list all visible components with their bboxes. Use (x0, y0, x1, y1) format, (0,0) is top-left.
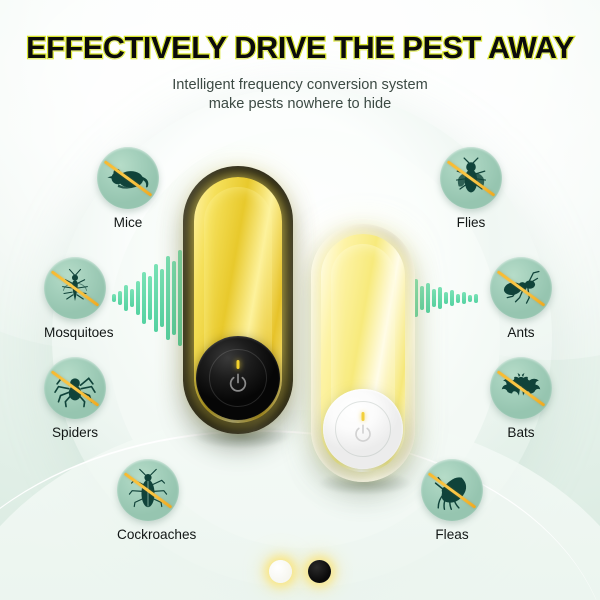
wave-bar (130, 289, 134, 307)
white-device-led-indicator (362, 412, 365, 421)
wave-bar (148, 276, 152, 320)
wave-bar (142, 272, 146, 324)
mosquitoes-badge-disc (44, 257, 106, 319)
mice-badge-disc (97, 147, 159, 209)
pest-label-spiders: Spiders (44, 425, 106, 440)
wave-bar (456, 294, 460, 303)
pest-badge-flies[interactable]: Flies (440, 147, 502, 209)
white-repeller-device[interactable] (311, 224, 415, 482)
pest-label-fleas: Fleas (421, 527, 483, 542)
wave-bar (474, 294, 478, 303)
spiders-badge-disc (44, 357, 106, 419)
power-icon (227, 372, 249, 394)
wave-bar (178, 250, 182, 346)
black-repeller-device[interactable] (183, 166, 293, 434)
black-device-power-button[interactable] (196, 336, 280, 420)
page-subtitle: Intelligent frequency conversion system … (0, 76, 600, 113)
wave-bar (468, 295, 472, 302)
pest-label-cockroaches: Cockroaches (117, 527, 179, 542)
subtitle-line-2: make pests nowhere to hide (0, 95, 600, 114)
pest-badge-bats[interactable]: Bats (490, 357, 552, 419)
pest-badge-mosquitoes[interactable]: Mosquitoes (44, 257, 106, 319)
color-swatch-black[interactable] (308, 560, 331, 583)
wave-bar (112, 294, 116, 302)
wave-bar (462, 292, 466, 304)
bats-badge-disc (490, 357, 552, 419)
wave-bar (426, 283, 430, 313)
wave-bar (166, 256, 170, 340)
pest-badge-mice[interactable]: Mice (97, 147, 159, 209)
wave-bar (118, 291, 122, 305)
pest-label-mice: Mice (97, 215, 159, 230)
color-swatch-white[interactable] (269, 560, 292, 583)
pest-badge-cockroaches[interactable]: Cockroaches (117, 459, 179, 521)
subtitle-line-1: Intelligent frequency conversion system (0, 76, 600, 95)
wave-bar (432, 289, 436, 307)
pest-label-bats: Bats (490, 425, 552, 440)
wave-bar (420, 286, 424, 310)
flies-badge-disc (440, 147, 502, 209)
wave-bar (444, 292, 448, 304)
pest-badge-ants[interactable]: Ants (490, 257, 552, 319)
pest-label-mosquitoes: Mosquitoes (44, 325, 106, 340)
color-option-swatches (0, 560, 600, 583)
product-infographic: EFFECTIVELY DRIVE THE PEST AWAY Intellig… (0, 0, 600, 600)
wave-bar (124, 285, 128, 311)
wave-bar (136, 281, 140, 315)
wave-bar (154, 264, 158, 332)
pest-badge-fleas[interactable]: Fleas (421, 459, 483, 521)
wave-bar (438, 287, 442, 309)
pest-label-ants: Ants (490, 325, 552, 340)
wave-bar (160, 269, 164, 327)
wave-bar (450, 290, 454, 306)
page-title: EFFECTIVELY DRIVE THE PEST AWAY (0, 31, 600, 66)
cockroaches-badge-disc (117, 459, 179, 521)
pest-badge-spiders[interactable]: Spiders (44, 357, 106, 419)
fleas-badge-disc (421, 459, 483, 521)
black-device-led-indicator (237, 360, 240, 369)
ants-badge-disc (490, 257, 552, 319)
white-device-power-button[interactable] (323, 389, 403, 469)
wave-bar (172, 261, 176, 335)
power-icon (353, 423, 374, 444)
pest-label-flies: Flies (440, 215, 502, 230)
